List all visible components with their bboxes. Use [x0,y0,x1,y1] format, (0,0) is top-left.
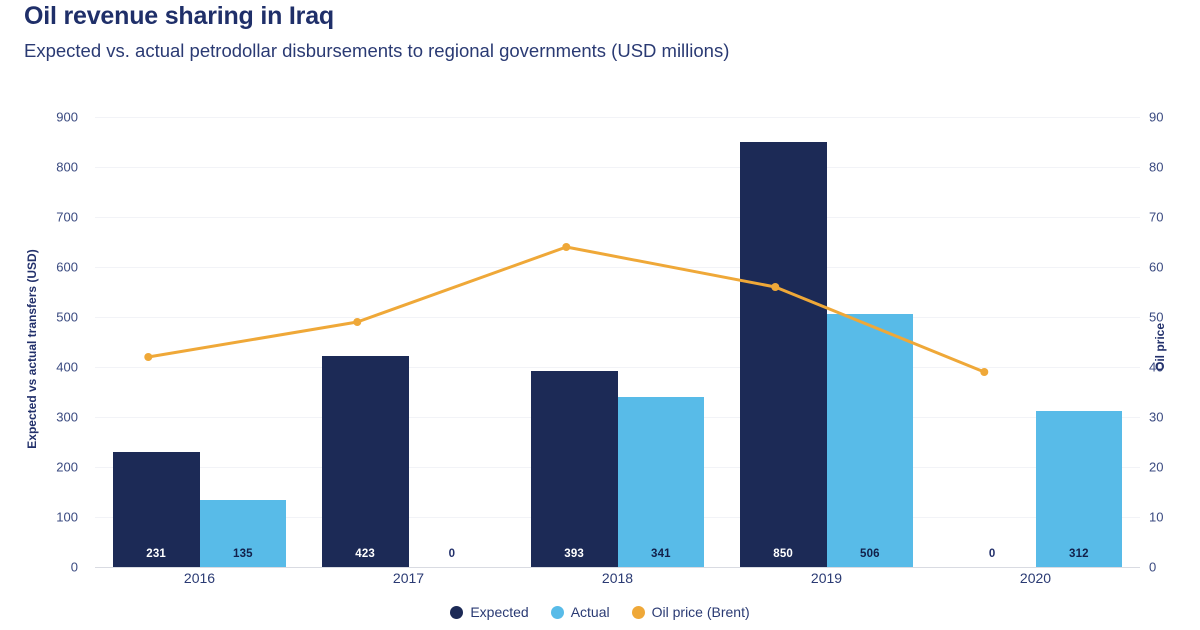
bar-value-label: 341 [618,548,705,560]
legend-item[interactable]: Expected [450,604,528,620]
legend: ExpectedActualOil price (Brent) [0,604,1200,620]
bar-group: 393341 [513,117,722,567]
bar-value-label: 393 [531,548,618,560]
y-axis-left-tick: 700 [56,210,78,225]
bar-slot: 231 [113,117,200,567]
bar-value-label: 0 [949,548,1036,560]
bars-layer: 23113542303933418505060312 [95,117,1140,567]
gridline [95,567,1140,568]
bar-value-label: 312 [1036,548,1123,560]
bar-slot: 0 [949,117,1036,567]
y-axis-left-title: Expected vs actual transfers (USD) [25,209,39,489]
x-axis-tick-2017: 2017 [304,570,513,586]
bar-group-inner: 0312 [949,117,1123,567]
bar-value-label: 231 [113,548,200,560]
legend-item[interactable]: Actual [551,604,610,620]
y-axis-left-tick: 400 [56,360,78,375]
y-axis-left-tick: 600 [56,260,78,275]
y-axis-left: 0100200300400500600700800900 [0,117,88,567]
bar-slot: 0 [409,117,496,567]
bar-value-label: 850 [740,548,827,560]
circle-marker-icon [551,606,564,619]
page-title: Oil revenue sharing in Iraq [24,2,334,31]
y-axis-right-tick: 90 [1149,110,1163,125]
plot-area: 23113542303933418505060312 [95,117,1140,567]
bar-actual-2018[interactable] [618,397,705,568]
x-axis-tick-2019: 2019 [722,570,931,586]
bar-slot: 850 [740,117,827,567]
bar-actual-2019[interactable] [827,314,914,567]
bar-value-label: 506 [827,548,914,560]
legend-label: Actual [571,604,610,620]
x-axis: 20162017201820192020 [95,570,1140,586]
bar-group-inner: 850506 [740,117,914,567]
bar-value-label: 423 [322,548,409,560]
y-axis-left-tick: 100 [56,510,78,525]
bar-slot: 341 [618,117,705,567]
bar-group: 0312 [931,117,1140,567]
bar-slot: 423 [322,117,409,567]
chart-page: Oil revenue sharing in Iraq Expected vs.… [0,0,1200,630]
y-axis-right-tick: 0 [1149,560,1156,575]
bar-slot: 135 [200,117,287,567]
y-axis-right-tick: 60 [1149,260,1163,275]
bar-slot: 506 [827,117,914,567]
bar-expected-2019[interactable] [740,142,827,567]
x-axis-tick-2020: 2020 [931,570,1140,586]
bar-slot: 393 [531,117,618,567]
legend-item[interactable]: Oil price (Brent) [632,604,750,620]
circle-marker-icon [632,606,645,619]
y-axis-right-tick: 20 [1149,460,1163,475]
bar-expected-2017[interactable] [322,356,409,568]
page-subtitle: Expected vs. actual petrodollar disburse… [24,40,729,62]
y-axis-right-title: Oil price [1153,287,1167,407]
bar-slot: 312 [1036,117,1123,567]
x-axis-tick-2018: 2018 [513,570,722,586]
legend-label: Oil price (Brent) [652,604,750,620]
bar-actual-2020[interactable] [1036,411,1123,567]
circle-marker-icon [450,606,463,619]
x-axis-tick-2016: 2016 [95,570,304,586]
bar-group-inner: 393341 [531,117,705,567]
y-axis-left-tick: 0 [71,560,78,575]
bar-expected-2018[interactable] [531,371,618,568]
legend-label: Expected [470,604,528,620]
bar-value-label: 0 [409,548,496,560]
y-axis-right-tick: 30 [1149,410,1163,425]
bar-value-label: 135 [200,548,287,560]
bar-group: 231135 [95,117,304,567]
y-axis-right-tick: 10 [1149,510,1163,525]
bar-group: 4230 [304,117,513,567]
y-axis-left-tick: 500 [56,310,78,325]
bar-group: 850506 [722,117,931,567]
y-axis-right-tick: 80 [1149,160,1163,175]
bar-group-inner: 4230 [322,117,496,567]
bar-group-inner: 231135 [113,117,287,567]
y-axis-right-tick: 70 [1149,210,1163,225]
y-axis-left-tick: 900 [56,110,78,125]
y-axis-left-tick: 300 [56,410,78,425]
y-axis-left-tick: 200 [56,460,78,475]
y-axis-left-tick: 800 [56,160,78,175]
